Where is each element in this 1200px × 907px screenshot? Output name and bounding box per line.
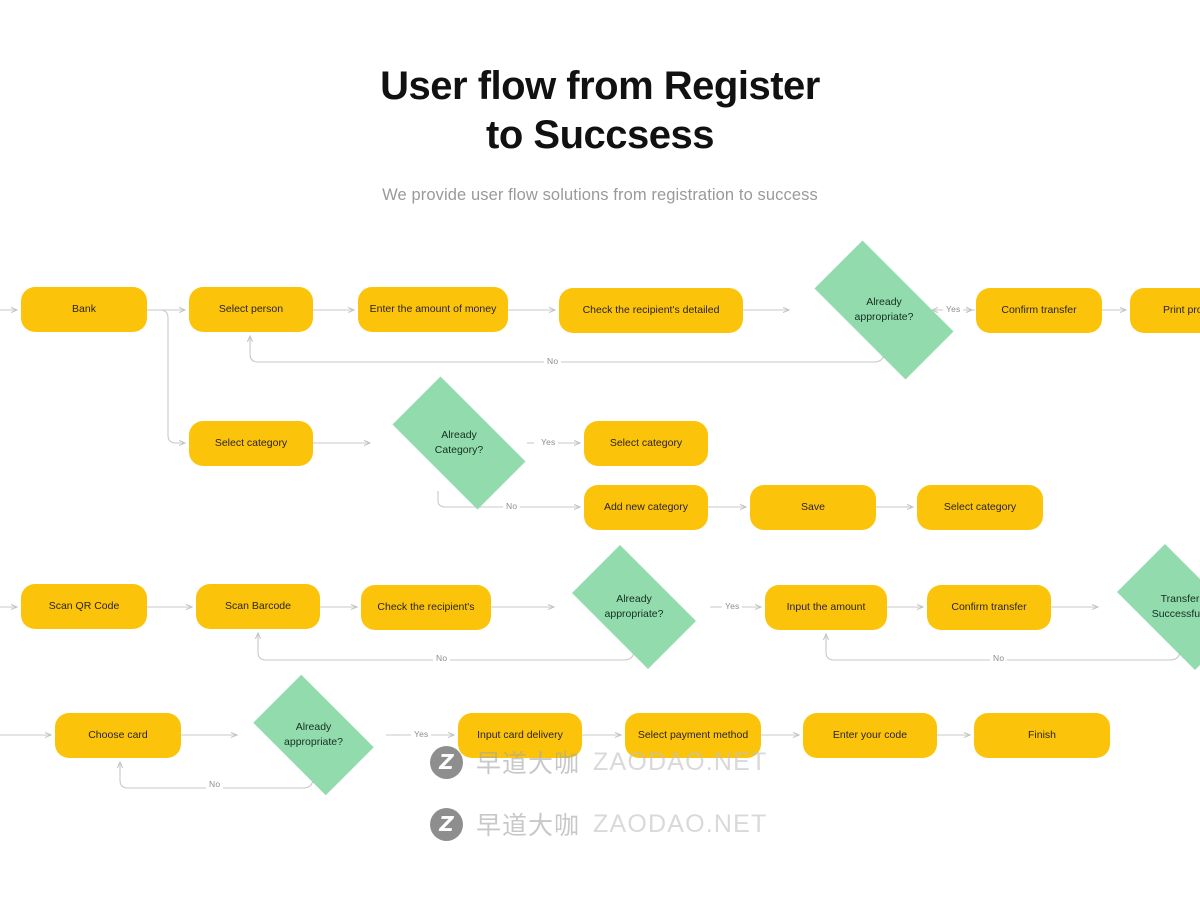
node-label: Enter your code — [825, 729, 915, 742]
node-label: Already appropriate? — [855, 295, 914, 325]
edge-label-no: No — [433, 653, 450, 663]
node-label: Bank — [64, 303, 104, 316]
node-already-appropriate-2[interactable]: Already appropriate? — [558, 559, 710, 655]
node-add-new-category[interactable]: Add new category — [584, 485, 708, 530]
node-label: Confirm transfer — [943, 601, 1034, 614]
node-label: Add new category — [596, 501, 696, 514]
node-label: Check the recipient's detailed — [575, 304, 728, 317]
node-select-category-3[interactable]: Select category — [917, 485, 1043, 530]
node-label: Save — [793, 501, 833, 514]
node-input-card-delivery[interactable]: Input card delivery — [458, 713, 582, 758]
node-scan-barcode[interactable]: Scan Barcode — [196, 584, 320, 629]
edge-label-no: No — [206, 779, 223, 789]
node-confirm-transfer-1[interactable]: Confirm transfer — [976, 288, 1102, 333]
edge-label-no: No — [544, 356, 561, 366]
edge-label-yes: Yes — [538, 437, 558, 447]
node-label: Scan QR Code — [41, 600, 128, 613]
edge-label-yes: Yes — [722, 601, 742, 611]
node-label: Input the amount — [779, 601, 874, 614]
node-enter-amount[interactable]: Enter the amount of money — [358, 287, 508, 332]
node-label: Already appropriate? — [284, 720, 343, 750]
node-select-person[interactable]: Select person — [189, 287, 313, 332]
node-label: Choose card — [80, 729, 156, 742]
node-label: Select person — [211, 303, 291, 316]
edge-label-yes: Yes — [411, 729, 431, 739]
node-label: Enter the amount of money — [362, 303, 505, 316]
node-label: Scan Barcode — [217, 600, 299, 613]
node-input-the-amount[interactable]: Input the amount — [765, 585, 887, 630]
node-label: Already Category? — [435, 428, 483, 458]
node-save[interactable]: Save — [750, 485, 876, 530]
node-label: Finish — [1020, 729, 1064, 742]
node-label: Confirm transfer — [993, 304, 1084, 317]
node-choose-card[interactable]: Choose card — [55, 713, 181, 758]
node-label: Print proof of — [1155, 304, 1200, 317]
edge-label-yes: Yes — [943, 304, 963, 314]
node-label: Select category — [207, 437, 295, 450]
node-select-category-2[interactable]: Select category — [584, 421, 708, 466]
node-enter-your-code[interactable]: Enter your code — [803, 713, 937, 758]
edge-label-no: No — [990, 653, 1007, 663]
node-confirm-transfer-2[interactable]: Confirm transfer — [927, 585, 1051, 630]
node-label: Check the recipient's — [369, 601, 482, 614]
node-label: Input card delivery — [469, 729, 571, 742]
node-check-recipient[interactable]: Check the recipient's — [361, 585, 491, 630]
node-label: Select category — [602, 437, 690, 450]
node-label: Transfer Successful? — [1152, 592, 1200, 622]
edge-label-no: No — [503, 501, 520, 511]
node-select-category-1[interactable]: Select category — [189, 421, 313, 466]
node-select-payment-method[interactable]: Select payment method — [625, 713, 761, 758]
node-label: Already appropriate? — [605, 592, 664, 622]
node-transfer-successful[interactable]: Transfer Successful? — [1102, 559, 1200, 655]
node-already-appropriate-3[interactable]: Already appropriate? — [241, 687, 386, 783]
node-bank[interactable]: Bank — [21, 287, 147, 332]
node-print-proof[interactable]: Print proof of — [1130, 288, 1200, 333]
node-already-category[interactable]: Already Category? — [374, 395, 544, 491]
node-label: Select category — [936, 501, 1024, 514]
node-check-recipient-detailed[interactable]: Check the recipient's detailed — [559, 288, 743, 333]
node-finish[interactable]: Finish — [974, 713, 1110, 758]
flowchart-canvas: Bank Select person Enter the amount of m… — [0, 0, 1200, 907]
node-label: Select payment method — [630, 729, 756, 742]
node-scan-qr-code[interactable]: Scan QR Code — [21, 584, 147, 629]
